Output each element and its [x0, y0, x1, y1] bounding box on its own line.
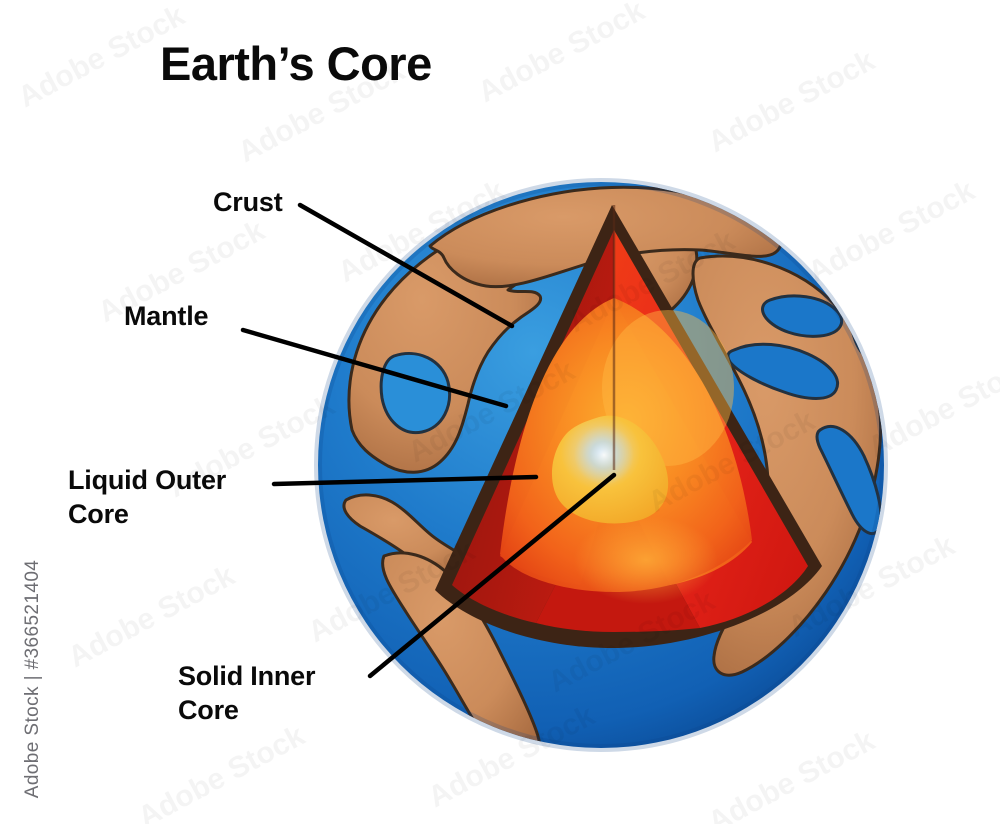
diagram-canvas: Earth’s Core Crust Mantle Liquid Outer C…: [0, 0, 1000, 824]
label-crust: Crust: [213, 185, 283, 219]
label-solid-inner-core: Solid Inner Core: [178, 659, 315, 727]
outer-core-bottom-glow: [574, 516, 718, 604]
page-title: Earth’s Core: [160, 36, 432, 91]
earth-cutaway-illustration: [0, 0, 1000, 824]
inner-core-glow: [574, 425, 634, 485]
stock-watermark-sidebar: Adobe Stock | #366521404: [22, 554, 44, 804]
sea-inland-north: [738, 90, 798, 160]
label-mantle: Mantle: [124, 299, 208, 333]
label-liquid-outer-core: Liquid Outer Core: [68, 463, 226, 531]
